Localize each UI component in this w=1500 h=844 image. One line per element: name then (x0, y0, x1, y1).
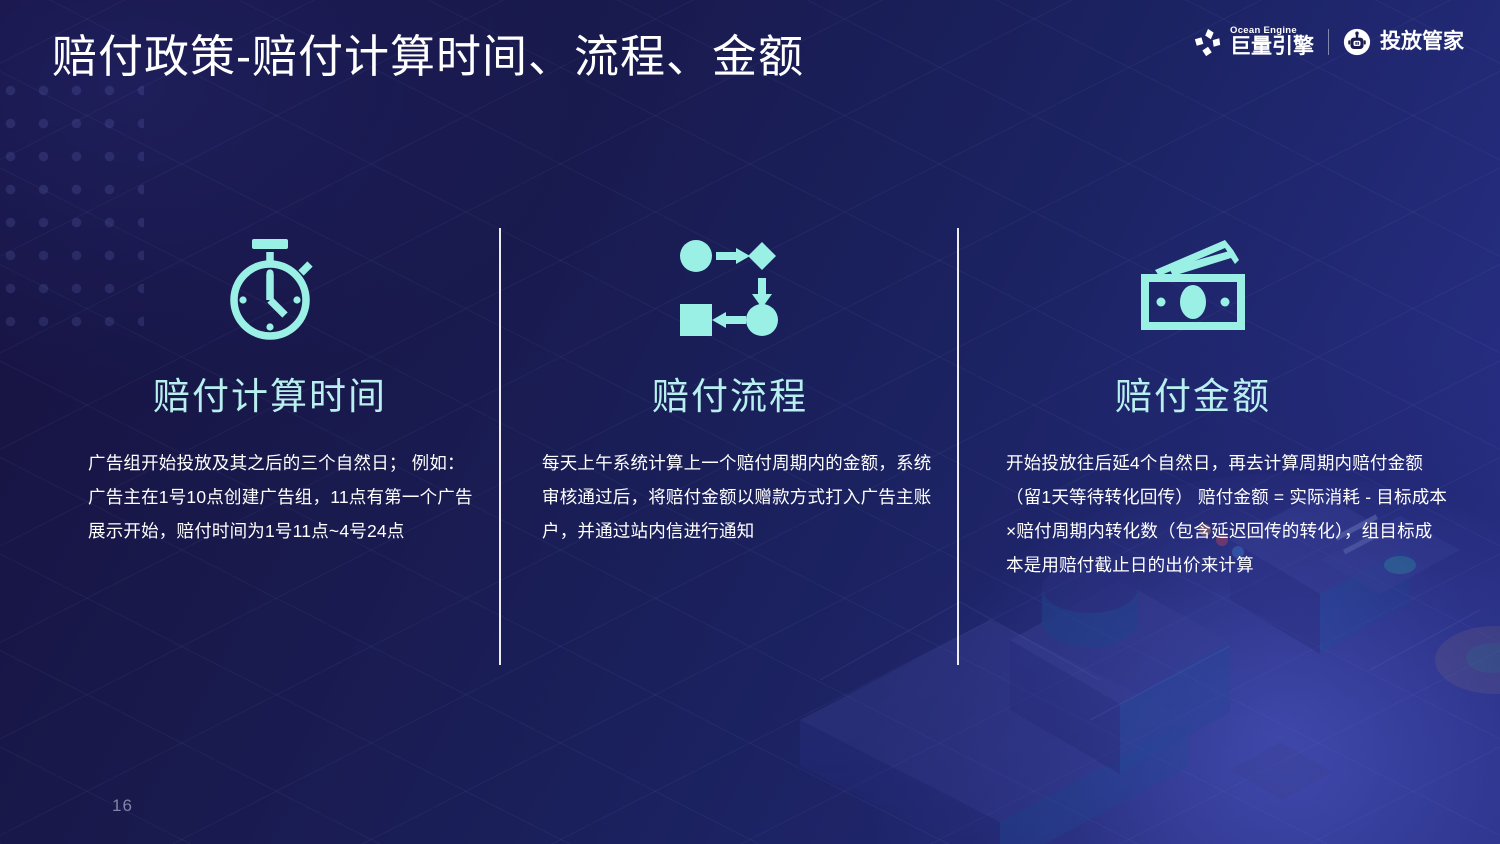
brand-separator (1328, 29, 1329, 55)
product-name: 投放管家 (1380, 31, 1464, 53)
ocean-engine-cn: 巨量引擎 (1230, 36, 1314, 58)
column-payout-amount: 赔付金额 开始投放往后延4个自然日，再去计算周期内赔付金额（留1天等待转化回传）… (978, 228, 1448, 582)
column-1-title: 赔付计算时间 (60, 370, 480, 424)
column-2-title: 赔付流程 (520, 370, 940, 424)
robot-badge-icon (1343, 28, 1371, 56)
slide-root: 赔付政策-赔付计算时间、流程、金额 Ocean Engine 巨量引擎 (0, 0, 1500, 844)
column-2-icon-wrap (520, 228, 940, 348)
column-3-title: 赔付金额 (978, 370, 1448, 424)
column-1-body: 广告组开始投放及其之后的三个自然日； 例如：广告主在1号10点创建广告组，11点… (60, 446, 480, 548)
column-divider-1 (499, 228, 501, 665)
product-brand: 投放管家 (1343, 28, 1464, 56)
content-columns: 赔付计算时间 广告组开始投放及其之后的三个自然日； 例如：广告主在1号10点创建… (0, 228, 1500, 668)
column-payout-time: 赔付计算时间 广告组开始投放及其之后的三个自然日； 例如：广告主在1号10点创建… (60, 228, 480, 548)
ocean-engine-brand: Ocean Engine 巨量引擎 (1193, 26, 1314, 58)
column-3-icon-wrap (978, 228, 1448, 348)
banknote-icon (1133, 236, 1253, 340)
column-2-body: 每天上午系统计算上一个赔付周期内的金额，系统审核通过后，将赔付金额以赠款方式打入… (520, 446, 940, 548)
page-title: 赔付政策-赔付计算时间、流程、金额 (52, 26, 804, 88)
flowchart-icon (674, 236, 786, 340)
page-number: 16 (112, 796, 133, 816)
column-payout-process: 赔付流程 每天上午系统计算上一个赔付周期内的金额，系统审核通过后，将赔付金额以赠… (520, 228, 940, 548)
brand-bar: Ocean Engine 巨量引擎 投放管家 (1193, 22, 1464, 62)
ocean-engine-wordmark: Ocean Engine 巨量引擎 (1230, 26, 1314, 58)
column-1-icon-wrap (60, 228, 480, 348)
stopwatch-icon (216, 232, 324, 344)
column-divider-2 (957, 228, 959, 665)
ocean-engine-logo-icon (1193, 27, 1223, 57)
column-3-body: 开始投放往后延4个自然日，再去计算周期内赔付金额（留1天等待转化回传） 赔付金额… (978, 446, 1448, 582)
